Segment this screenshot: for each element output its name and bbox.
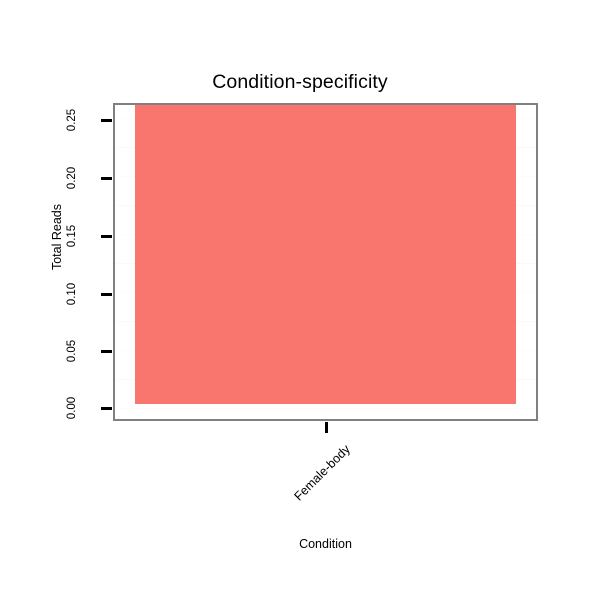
y-tick-label-0.00: 0.00 xyxy=(66,386,78,430)
y-tick-mark-0.10 xyxy=(101,293,112,296)
x-tick-label-female-body: Female-body xyxy=(282,442,353,513)
gridline-minor xyxy=(115,408,536,409)
panel-inner xyxy=(115,105,536,419)
y-tick-mark-0.15 xyxy=(101,235,112,238)
y-tick-mark-0.00 xyxy=(101,407,112,410)
bar-female-body[interactable] xyxy=(135,105,516,404)
chart-title: Condition-specificity xyxy=(0,70,600,94)
y-tick-label-0.20: 0.20 xyxy=(66,156,78,200)
y-tick-label-0.05: 0.05 xyxy=(66,329,78,373)
y-tick-label-0.25: 0.25 xyxy=(66,98,78,142)
y-tick-label-0.10: 0.10 xyxy=(66,272,78,316)
chart-canvas: Condition-specificity 0.25 0.20 0.15 0.1… xyxy=(0,0,600,600)
x-tick-mark-female-body xyxy=(325,422,328,433)
y-tick-mark-0.05 xyxy=(101,350,112,353)
x-axis-title: Condition xyxy=(113,537,538,551)
y-axis-title: Total Reads xyxy=(50,202,64,272)
y-tick-mark-0.25 xyxy=(101,119,112,122)
y-tick-mark-0.20 xyxy=(101,177,112,180)
plot-panel xyxy=(113,103,538,421)
y-tick-label-0.15: 0.15 xyxy=(66,214,78,258)
